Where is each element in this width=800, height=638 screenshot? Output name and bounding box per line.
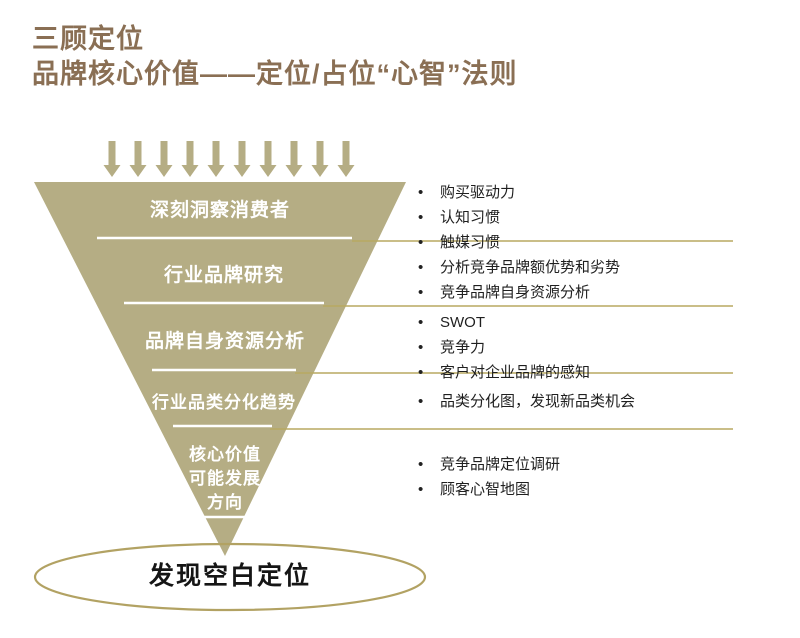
bullet-item: •竞争力 <box>418 335 590 360</box>
bullet-text: 品类分化图，发现新品类机会 <box>440 389 635 414</box>
bullet-item: •客户对企业品牌的感知 <box>418 360 590 385</box>
bullet-text: 竞争力 <box>440 335 485 360</box>
bullet-text: SWOT <box>440 310 485 335</box>
bullet-marker-icon: • <box>418 205 440 230</box>
input-arrows <box>104 141 355 177</box>
bullet-marker-icon: • <box>418 310 440 335</box>
bullet-marker-icon: • <box>418 452 440 477</box>
inflow-arrow-10 <box>338 141 355 177</box>
bullet-marker-icon: • <box>418 335 440 360</box>
bullet-marker-icon: • <box>418 230 440 255</box>
slide-canvas: 三顾定位 品牌核心价值——定位/占位“心智”法则 深刻洞察消费者 行业品牌研究 … <box>0 0 800 638</box>
bullet-item: •触媒习惯 <box>418 230 515 255</box>
bullet-text: 认知习惯 <box>440 205 500 230</box>
bullet-group-5: •竞争品牌定位调研•顾客心智地图 <box>418 452 560 502</box>
bullet-item: •购买驱动力 <box>418 180 515 205</box>
bullet-group-3: •SWOT•竞争力•客户对企业品牌的感知 <box>418 310 590 385</box>
inflow-arrow-5 <box>208 141 225 177</box>
inflow-arrow-9 <box>312 141 329 177</box>
inflow-arrow-3 <box>156 141 173 177</box>
bullet-marker-icon: • <box>418 255 440 280</box>
bullet-item: •分析竞争品牌额优势和劣势 <box>418 255 620 280</box>
bullet-group-1: •购买驱动力•认知习惯•触媒习惯 <box>418 180 515 255</box>
bullet-item: •竞争品牌定位调研 <box>418 452 560 477</box>
bullet-item: •顾客心智地图 <box>418 477 560 502</box>
inflow-arrow-2 <box>130 141 147 177</box>
bullet-group-2: •分析竞争品牌额优势和劣势•竞争品牌自身资源分析 <box>418 255 620 305</box>
bullet-marker-icon: • <box>418 477 440 502</box>
bullet-item: •竞争品牌自身资源分析 <box>418 280 620 305</box>
bullet-marker-icon: • <box>418 360 440 385</box>
inflow-arrow-8 <box>286 141 303 177</box>
bullet-text: 客户对企业品牌的感知 <box>440 360 590 385</box>
bullet-marker-icon: • <box>418 389 440 414</box>
bullet-text: 顾客心智地图 <box>440 477 530 502</box>
bullet-text: 竞争品牌自身资源分析 <box>440 280 590 305</box>
bullet-group-4: •品类分化图，发现新品类机会 <box>418 389 635 414</box>
bullet-text: 购买驱动力 <box>440 180 515 205</box>
inflow-arrow-6 <box>234 141 251 177</box>
bullet-item: •品类分化图，发现新品类机会 <box>418 389 635 414</box>
inflow-arrow-4 <box>182 141 199 177</box>
bullet-marker-icon: • <box>418 180 440 205</box>
bullet-item: •SWOT <box>418 310 590 335</box>
bullet-marker-icon: • <box>418 280 440 305</box>
bullet-text: 竞争品牌定位调研 <box>440 452 560 477</box>
bullet-item: •认知习惯 <box>418 205 515 230</box>
inflow-arrow-1 <box>104 141 121 177</box>
outcome-label: 发现空白定位 <box>35 556 425 592</box>
bullet-text: 触媒习惯 <box>440 230 500 255</box>
inflow-arrow-7 <box>260 141 277 177</box>
bullet-text: 分析竞争品牌额优势和劣势 <box>440 255 620 280</box>
funnel-diagram <box>0 0 800 638</box>
